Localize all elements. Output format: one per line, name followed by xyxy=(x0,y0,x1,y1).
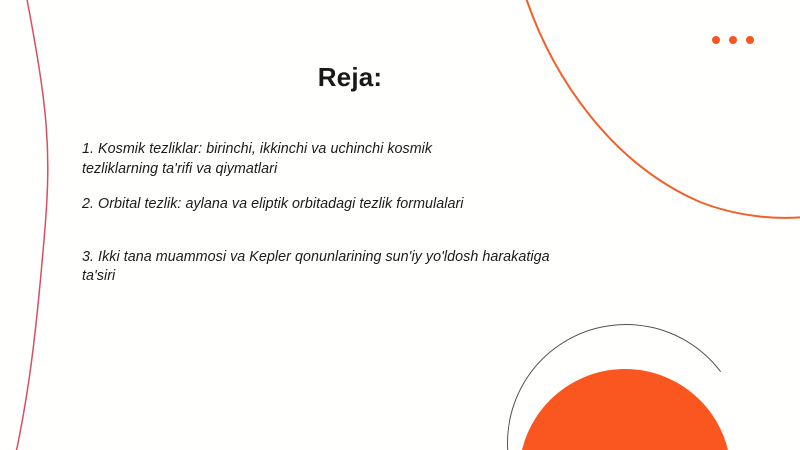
orange-curve-top-right-icon xyxy=(524,0,800,218)
list-item: 1. Kosmik tezliklar: birinchi, ikkinchi … xyxy=(82,140,502,179)
list-item: 2. Orbital tezlik: aylana va eliptik orb… xyxy=(82,195,552,215)
dot-group xyxy=(712,36,758,46)
dot-2-icon xyxy=(729,36,737,44)
dot-3-icon xyxy=(746,36,754,44)
page-title: Reja: xyxy=(0,62,700,93)
list-item: 3. Ikki tana muammosi va Kepler qonunlar… xyxy=(82,248,562,287)
dot-1-icon xyxy=(712,36,720,44)
presentation-slide: Reja: 1. Kosmik tezliklar: birinchi, ikk… xyxy=(0,0,800,450)
agenda-list: 1. Kosmik tezliklar: birinchi, ikkinchi … xyxy=(82,140,552,287)
